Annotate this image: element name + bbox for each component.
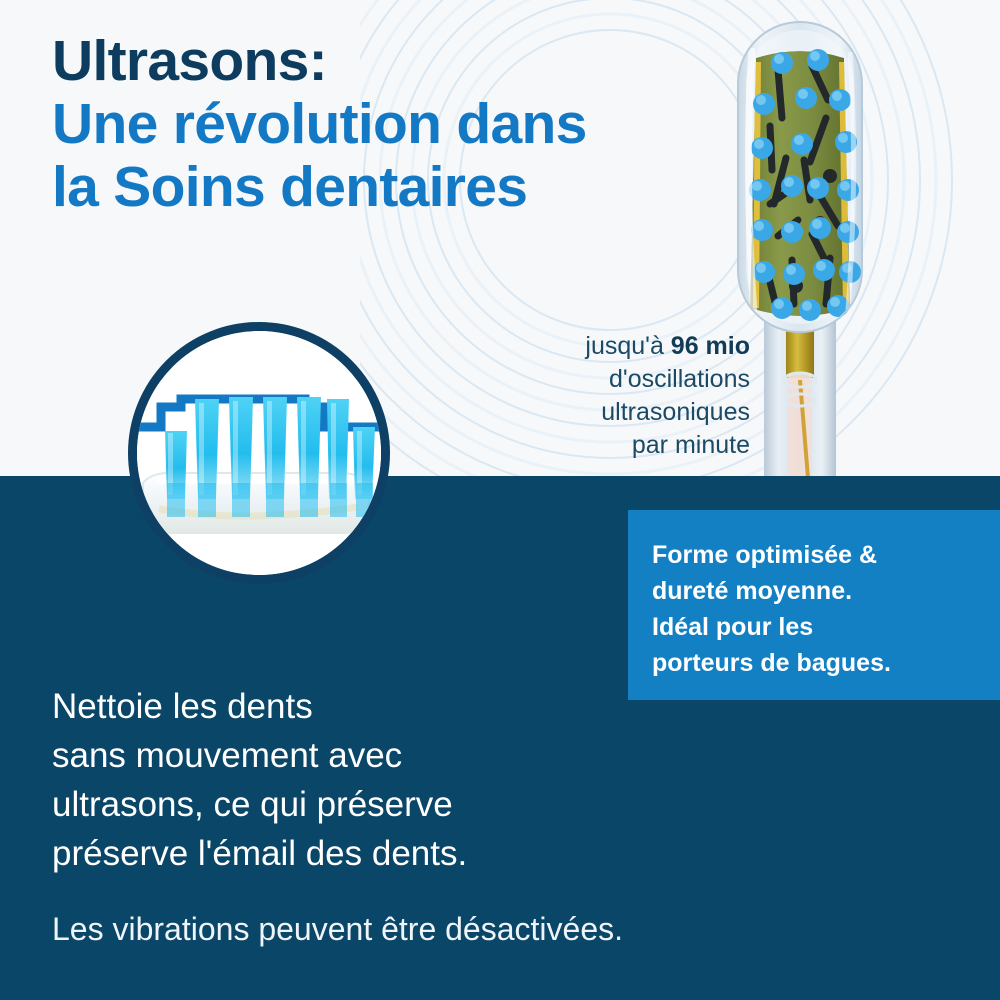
oscillation-line-4: par minute: [470, 429, 750, 462]
paragraph-line-2: sans mouvement avec: [52, 731, 672, 780]
callout-line-2: dureté moyenne.: [652, 573, 990, 609]
paragraph-line-1: Nettoie les dents: [52, 682, 672, 731]
infographic-poster: Ultrasons: Une révolution dans la Soins …: [0, 0, 1000, 1000]
callout-line-4: porteurs de bagues.: [652, 645, 990, 681]
headline-line-1: Ultrasons:: [52, 30, 752, 93]
headline: Ultrasons: Une révolution dans la Soins …: [52, 30, 752, 219]
headline-line-3: la Soins dentaires: [52, 156, 752, 219]
oscillation-prefix: jusqu'à: [585, 332, 670, 360]
oscillation-line-2: d'oscillations: [470, 363, 750, 396]
footnote-text: Les vibrations peuvent être désactivées.: [52, 908, 952, 950]
body-paragraph: Nettoie les dents sans mouvement avec ul…: [52, 682, 672, 878]
callout-line-3: Idéal pour les: [652, 609, 990, 645]
paragraph-line-3: ultrasons, ce qui préserve: [52, 780, 672, 829]
paragraph-line-4: préserve l'émail des dents.: [52, 829, 672, 878]
oscillation-value: 96 mio: [671, 332, 750, 360]
oscillation-caption: jusqu'à 96 mio d'oscillations ultrasoniq…: [470, 330, 750, 462]
callout-box: Forme optimisée & dureté moyenne. Idéal …: [628, 510, 1000, 700]
oscillation-line-1: jusqu'à 96 mio: [470, 330, 750, 363]
headline-line-2: Une révolution dans: [52, 93, 752, 156]
oscillation-line-3: ultrasoniques: [470, 396, 750, 429]
bristle-closeup-circle: [128, 322, 390, 584]
callout-line-1: Forme optimisée &: [652, 537, 990, 573]
callout-text: Forme optimisée & dureté moyenne. Idéal …: [652, 537, 990, 681]
